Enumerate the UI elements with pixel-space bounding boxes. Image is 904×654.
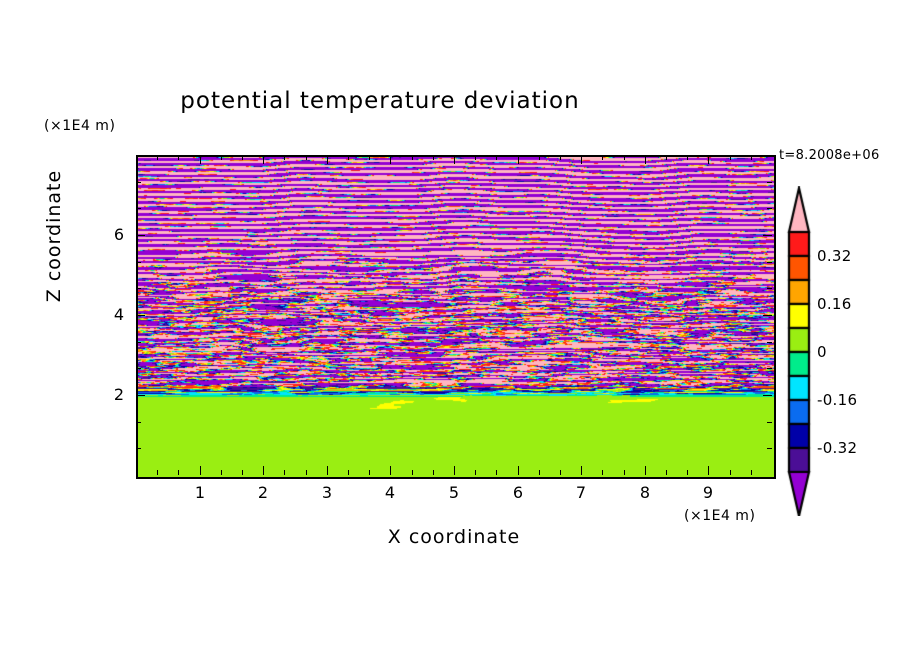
x-minor-tick-top — [412, 155, 413, 160]
z-minor-tick — [136, 288, 141, 289]
x-minor-tick — [687, 470, 688, 475]
x-tick-label: 2 — [248, 483, 278, 502]
x-minor-tick-top — [560, 155, 561, 160]
z-minor-tick-right — [767, 315, 772, 316]
x-minor-tick-top — [263, 155, 264, 160]
x-minor-tick — [200, 470, 201, 475]
x-minor-tick — [178, 470, 179, 475]
x-tick-label: 3 — [312, 483, 342, 502]
y-axis-label: Z coordinate — [43, 146, 65, 326]
x-minor-tick — [602, 470, 603, 475]
x-minor-tick-top — [518, 155, 519, 160]
x-minor-tick-top — [581, 155, 582, 160]
z-minor-tick — [136, 262, 141, 263]
z-minor-tick-right — [767, 182, 772, 183]
x-minor-tick — [284, 470, 285, 475]
z-tick-label: 4 — [98, 305, 124, 324]
x-minor-tick — [581, 470, 582, 475]
x-minor-tick-top — [645, 155, 646, 160]
z-minor-tick-right — [767, 448, 772, 449]
x-minor-tick-top — [751, 155, 752, 160]
x-minor-tick — [539, 470, 540, 475]
z-minor-tick — [136, 315, 141, 316]
colorbar-tick-label: 0.32 — [817, 247, 852, 265]
x-minor-tick-top — [284, 155, 285, 160]
x-tick-label: 8 — [630, 483, 660, 502]
x-minor-tick-top — [687, 155, 688, 160]
x-minor-tick — [475, 470, 476, 475]
contour-plot-area — [136, 155, 776, 479]
scalar-field-image — [138, 157, 774, 477]
x-tick-label: 7 — [566, 483, 596, 502]
x-minor-tick-top — [433, 155, 434, 160]
x-minor-tick — [454, 470, 455, 475]
x-minor-tick — [390, 470, 391, 475]
z-minor-tick — [136, 422, 141, 423]
z-minor-tick-right — [767, 288, 772, 289]
colorbar-tick-label: 0 — [817, 343, 827, 361]
x-minor-tick-top — [390, 155, 391, 160]
x-minor-tick-top — [624, 155, 625, 160]
x-minor-tick — [348, 470, 349, 475]
x-minor-tick-top — [369, 155, 370, 160]
x-minor-tick — [496, 470, 497, 475]
x-minor-tick-top — [200, 155, 201, 160]
z-minor-tick — [136, 448, 141, 449]
x-minor-tick-top — [221, 155, 222, 160]
x-minor-tick-top — [306, 155, 307, 160]
x-minor-tick-top — [602, 155, 603, 160]
x-minor-tick — [157, 470, 158, 475]
x-minor-tick-top — [178, 155, 179, 160]
x-minor-tick — [708, 470, 709, 475]
z-minor-tick — [136, 395, 141, 396]
x-minor-tick-top — [666, 155, 667, 160]
z-minor-tick-right — [767, 368, 772, 369]
x-minor-tick — [369, 470, 370, 475]
x-minor-tick-top — [242, 155, 243, 160]
colorbar: 0.320.160-0.16-0.32 — [781, 186, 821, 516]
z-minor-tick — [136, 342, 141, 343]
timestamp-annotation: t=8.2008e+06 — [779, 148, 880, 163]
x-minor-tick-top — [327, 155, 328, 160]
x-minor-tick — [327, 470, 328, 475]
x-minor-tick — [221, 470, 222, 475]
x-minor-tick-top — [454, 155, 455, 160]
x-minor-tick — [306, 470, 307, 475]
z-axis-unit-label: (×1E4 m) — [44, 118, 115, 134]
x-minor-tick — [518, 470, 519, 475]
z-minor-tick-right — [767, 262, 772, 263]
z-minor-tick-right — [767, 235, 772, 236]
x-minor-tick-top — [496, 155, 497, 160]
x-minor-tick — [666, 470, 667, 475]
x-minor-tick — [433, 470, 434, 475]
z-minor-tick-right — [767, 395, 772, 396]
x-minor-tick-top — [730, 155, 731, 160]
colorbar-swatches — [781, 186, 821, 516]
x-minor-tick — [263, 470, 264, 475]
colorbar-tick-label: -0.16 — [817, 391, 857, 409]
x-minor-tick-top — [708, 155, 709, 160]
z-minor-tick-right — [767, 342, 772, 343]
z-tick-label: 6 — [98, 225, 124, 244]
x-axis-unit-label: (×1E4 m) — [684, 508, 755, 524]
x-minor-tick — [560, 470, 561, 475]
colorbar-tick-label: 0.16 — [817, 295, 852, 313]
x-tick-label: 9 — [693, 483, 723, 502]
z-minor-tick-right — [767, 422, 772, 423]
x-tick-label: 6 — [503, 483, 533, 502]
z-minor-tick — [136, 182, 141, 183]
x-minor-tick — [730, 470, 731, 475]
x-minor-tick — [624, 470, 625, 475]
x-minor-tick — [645, 470, 646, 475]
x-minor-tick-top — [348, 155, 349, 160]
x-tick-label: 1 — [185, 483, 215, 502]
x-axis-label: X coordinate — [236, 526, 672, 548]
z-minor-tick — [136, 208, 141, 209]
x-minor-tick-top — [539, 155, 540, 160]
x-tick-label: 4 — [375, 483, 405, 502]
x-tick-label: 5 — [439, 483, 469, 502]
z-minor-tick — [136, 235, 141, 236]
z-minor-tick — [136, 368, 141, 369]
x-minor-tick — [412, 470, 413, 475]
x-minor-tick-top — [157, 155, 158, 160]
x-minor-tick — [751, 470, 752, 475]
z-minor-tick-right — [767, 208, 772, 209]
x-minor-tick-top — [475, 155, 476, 160]
page-title: potential temperature deviation — [0, 88, 760, 114]
colorbar-tick-label: -0.32 — [817, 439, 857, 457]
z-tick-label: 2 — [98, 385, 124, 404]
x-minor-tick — [242, 470, 243, 475]
figure-canvas: potential temperature deviation (×1E4 m)… — [0, 0, 904, 654]
